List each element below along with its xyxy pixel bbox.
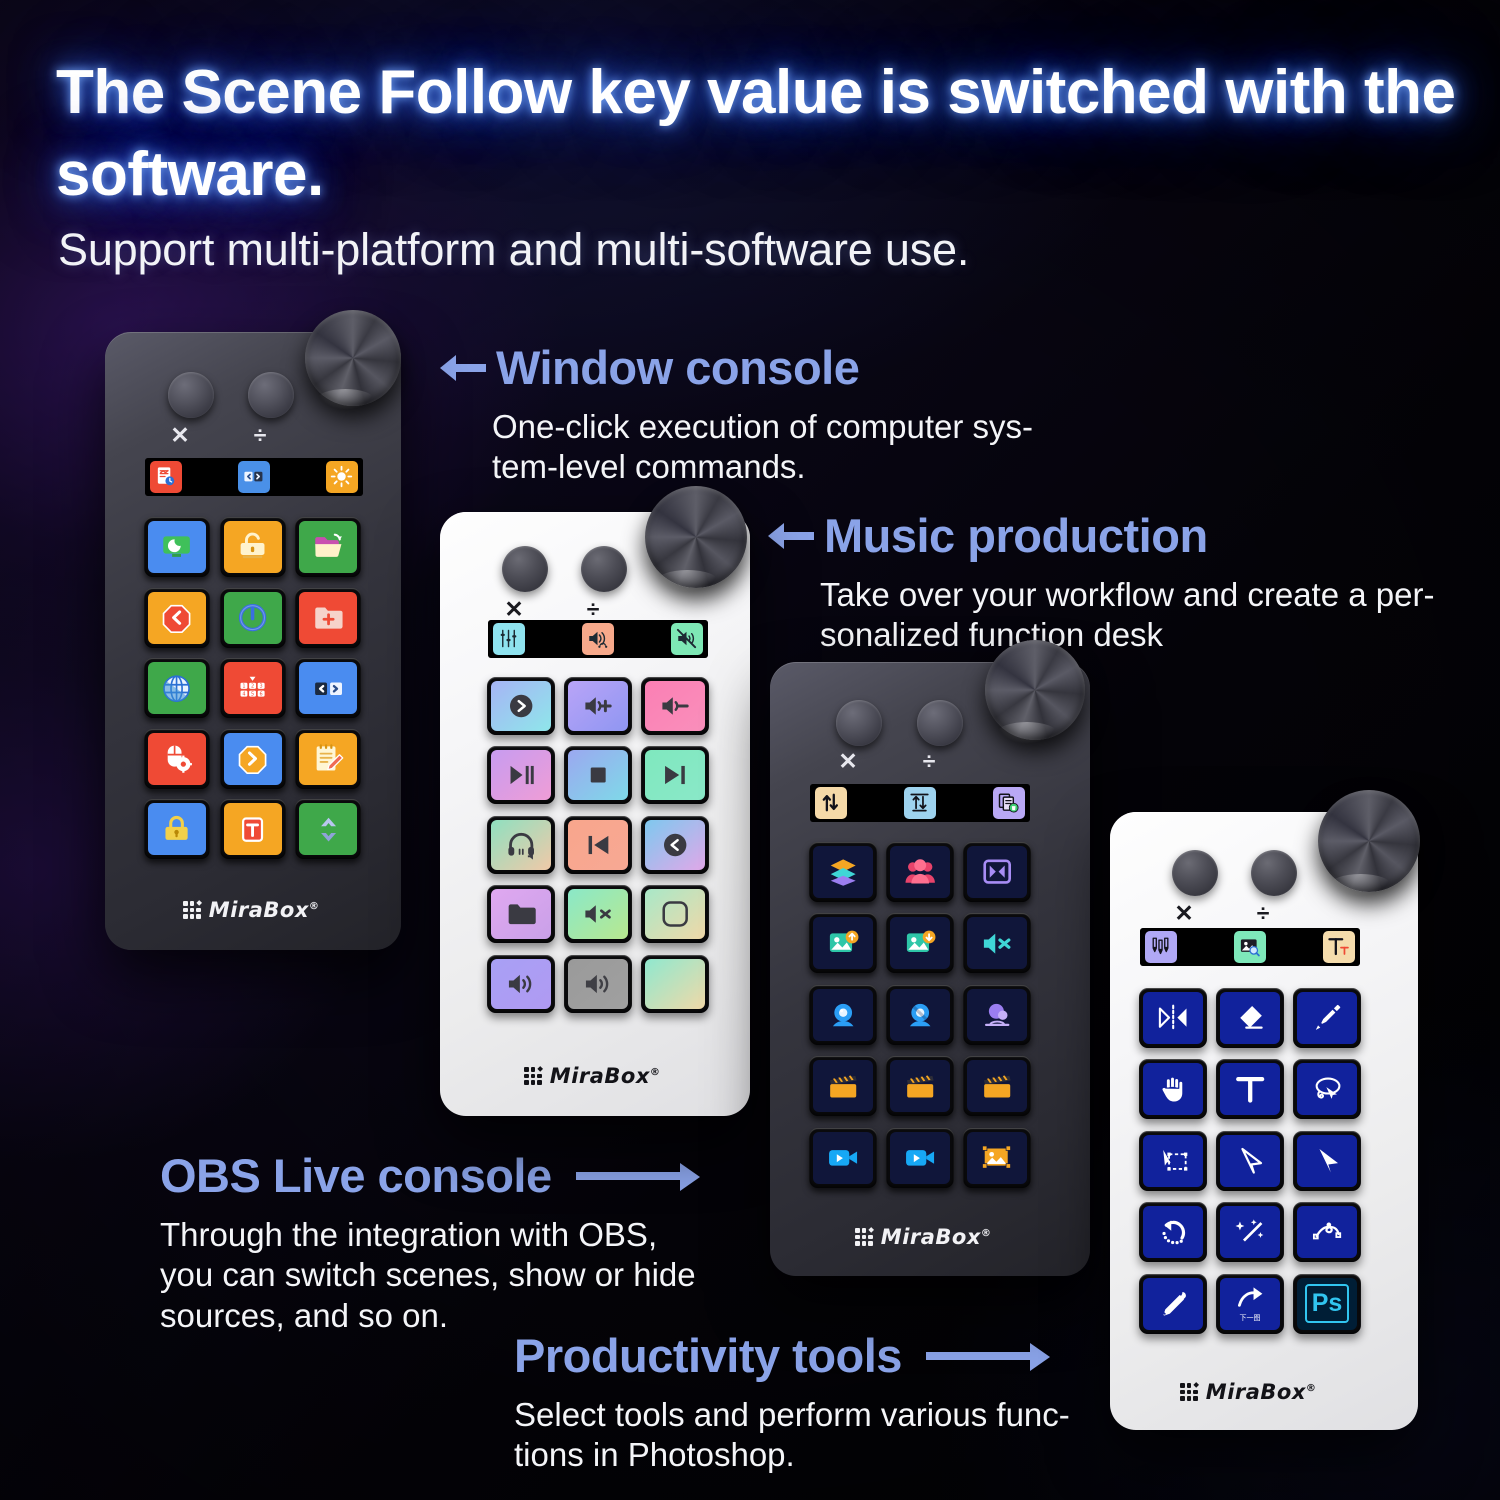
svg-text:1: 1	[242, 683, 245, 689]
callout-window-console-title: Window console	[440, 340, 1033, 395]
key-globe-network-icon[interactable]	[144, 658, 210, 718]
page-headline: The Scene Follow key value is switched w…	[56, 52, 1466, 217]
key-face-switch-window-icon	[299, 662, 357, 714]
rotary-encoder-knob[interactable]	[645, 486, 747, 588]
control-knob-small-2[interactable]	[1251, 850, 1297, 896]
key-face-mute-source-icon	[967, 917, 1027, 969]
key-speaker-muted-grey-icon[interactable]	[564, 955, 632, 1013]
divide-symbol-label: ÷	[247, 424, 273, 447]
key-back-circle-icon[interactable]	[641, 816, 709, 874]
key-face-forward-run-icon	[224, 733, 282, 785]
control-knob-small-2[interactable]	[581, 546, 627, 592]
control-knob-small-1[interactable]	[1172, 850, 1218, 896]
control-knob-small-1[interactable]	[836, 700, 882, 746]
callout-obs-live-console-body: Through the integration with OBS, you ca…	[160, 1215, 700, 1336]
key-obs-studio-icon[interactable]	[963, 985, 1031, 1045]
callout-music-production-title: Music production	[768, 508, 1434, 563]
key-face-back-stop-icon	[148, 592, 206, 644]
key-blank-gradient-key[interactable]	[641, 955, 709, 1013]
key-clapboard-scene-3-icon[interactable]	[963, 1056, 1031, 1116]
key-face-audience-group-icon	[890, 846, 950, 898]
key-lasso-tool-icon[interactable]	[1293, 1059, 1361, 1119]
key-face-text-tool-icon	[224, 803, 282, 855]
key-face-magic-wand-icon	[1220, 1206, 1280, 1258]
brand-logo: MiraBox®	[1180, 1380, 1316, 1404]
control-knob-small-1[interactable]	[168, 372, 214, 418]
key-face-sleep-monitor-icon	[148, 521, 206, 573]
key-rounded-square-outline-icon[interactable]	[641, 885, 709, 943]
strip-key-audio-mixer-icon[interactable]	[493, 623, 525, 655]
callout-productivity-tools-title: Productivity tools	[514, 1328, 1070, 1383]
arrow-left-icon	[440, 353, 486, 383]
key-face-mouse-settings-icon	[148, 733, 206, 785]
key-undo-icon[interactable]	[1139, 1202, 1207, 1262]
key-grid	[809, 842, 1033, 1190]
key-eraser-icon[interactable]	[1216, 988, 1284, 1048]
key-face-unlock-icon	[224, 521, 282, 573]
key-next-track-icon[interactable]	[641, 746, 709, 804]
key-face-transform-selection-icon	[1143, 1135, 1203, 1187]
key-face-image-show-icon	[813, 917, 873, 969]
key-hand-tool-icon[interactable]	[1139, 1059, 1207, 1119]
multiply-symbol-label: ✕	[501, 598, 527, 621]
key-switch-window-icon[interactable]	[295, 658, 361, 718]
key-webcam-on-icon[interactable]	[809, 985, 877, 1045]
key-face-pen-tool-icon	[1297, 992, 1357, 1044]
strip-key-duplicate-delete-icon[interactable]	[993, 787, 1025, 819]
brand-name-label: MiraBox®	[550, 1064, 661, 1088]
callout-music-production: Music production Take over your workflow…	[768, 508, 1434, 656]
key-face-obs-studio-icon	[967, 989, 1027, 1041]
control-knob-small-1[interactable]	[502, 546, 548, 592]
key-face-clapboard-scene-2-icon	[890, 1060, 950, 1112]
key-folder-icon[interactable]	[487, 885, 555, 943]
key-stop-icon[interactable]	[564, 746, 632, 804]
key-face-image-hide-icon	[890, 917, 950, 969]
key-face-eyedropper-icon	[1143, 1278, 1203, 1330]
brand-logo: MiraBox®	[855, 1225, 991, 1249]
strip-key-align-updown-icon[interactable]	[904, 787, 936, 819]
key-face-updown-chevron-icon	[299, 803, 357, 855]
key-headphones-audio-icon[interactable]	[487, 816, 555, 874]
key-grid: 下一图Ps	[1139, 988, 1363, 1336]
svg-text:2: 2	[251, 683, 254, 689]
callout-obs-live-console-title: OBS Live console	[160, 1148, 700, 1203]
arrow-left-icon	[768, 521, 814, 551]
brand-name-label: MiraBox®	[881, 1225, 992, 1249]
key-play-pause-icon[interactable]	[487, 746, 555, 804]
key-face-webcam-off-icon	[890, 989, 950, 1041]
key-face-next-track-icon	[645, 750, 705, 800]
key-face-numeric-keypad-icon: 123456	[224, 662, 282, 714]
strip-key-image-zoom-icon[interactable]	[1234, 931, 1266, 963]
key-face-pen-curve-icon	[1297, 1206, 1357, 1258]
page-subheadline: Support multi-platform and multi-softwar…	[58, 224, 1258, 276]
key-face-previous-track-icon	[568, 820, 628, 870]
top-key-strip	[145, 458, 363, 496]
key-face-rounded-square-outline-icon	[645, 889, 705, 939]
key-sleep-monitor-icon[interactable]	[144, 517, 210, 577]
divide-symbol-label: ÷	[1250, 902, 1276, 925]
key-notepad-edit-icon[interactable]	[295, 729, 361, 789]
key-face-next-step-arrow-icon: 下一图	[1220, 1278, 1280, 1330]
svg-text:4: 4	[242, 691, 245, 697]
rotary-encoder-knob[interactable]	[1318, 790, 1420, 892]
key-photoshop-icon[interactable]: Ps	[1293, 1274, 1361, 1334]
key-face-folder-icon	[491, 889, 551, 939]
key-face-path-selection-icon	[1220, 1135, 1280, 1187]
strip-key-headset-audio-icon[interactable]	[582, 623, 614, 655]
device-productivity-tools: ✕÷下一图PsMiraBox®	[1110, 812, 1418, 1430]
key-numeric-keypad-icon[interactable]: 123456	[220, 658, 286, 718]
divide-symbol-label: ÷	[580, 598, 606, 621]
key-eyedropper-icon[interactable]	[1139, 1274, 1207, 1334]
key-face-webcam-on-icon	[813, 989, 873, 1041]
brand-name-label: MiraBox®	[1206, 1380, 1317, 1404]
key-clapboard-scene-2-icon[interactable]	[886, 1056, 954, 1116]
key-image-hide-icon[interactable]	[886, 913, 954, 973]
key-webcam-off-icon[interactable]	[886, 985, 954, 1045]
strip-key-brightness-icon[interactable]	[326, 461, 358, 493]
svg-text:5: 5	[251, 691, 254, 697]
control-knob-small-2[interactable]	[248, 372, 294, 418]
key-mute-source-icon[interactable]	[963, 913, 1031, 973]
key-grid: 123456	[144, 517, 364, 862]
key-image-source-icon[interactable]	[963, 1128, 1031, 1188]
rotary-encoder-knob[interactable]	[305, 310, 401, 406]
key-mouse-settings-icon[interactable]	[144, 729, 210, 789]
key-face-power-icon	[224, 592, 282, 644]
key-face-speaker-muted-grey-icon	[568, 959, 628, 1009]
multiply-symbol-label: ✕	[835, 750, 861, 773]
key-transform-selection-icon[interactable]	[1139, 1131, 1207, 1191]
mirabox-grid-mark-icon	[855, 1228, 873, 1246]
control-knob-small-2[interactable]	[917, 700, 963, 746]
callout-music-production-body: Take over your workflow and create a per…	[820, 575, 1434, 656]
strip-key-brush-tools-icon[interactable]	[1145, 931, 1177, 963]
key-play-circle-icon[interactable]	[487, 677, 555, 735]
callout-productivity-tools: Productivity tools Select tools and perf…	[514, 1328, 1070, 1476]
key-face-volume-mute-icon	[568, 889, 628, 939]
key-power-icon[interactable]	[220, 588, 286, 648]
divide-symbol-label: ÷	[916, 750, 942, 773]
callout-window-console-body: One-click execution of computer sys- tem…	[492, 407, 1033, 488]
key-unlock-icon[interactable]	[220, 517, 286, 577]
key-face-start-recording-icon	[813, 1132, 873, 1184]
top-key-strip	[1140, 928, 1360, 966]
callout-obs-live-console: OBS Live console Through the integration…	[160, 1148, 700, 1336]
top-key-strip	[810, 784, 1030, 822]
key-path-selection-icon[interactable]	[1216, 1131, 1284, 1191]
callout-productivity-tools-body: Select tools and perform various func- t…	[514, 1395, 1070, 1476]
key-face-notepad-edit-icon	[299, 733, 357, 785]
mirabox-grid-mark-icon	[524, 1067, 542, 1085]
strip-key-text-size-icon[interactable]	[1323, 931, 1355, 963]
brand-logo: MiraBox®	[524, 1064, 660, 1088]
strip-key-swap-arrows-icon[interactable]	[815, 787, 847, 819]
strip-key-window-switch-icon[interactable]	[238, 461, 270, 493]
key-next-step-arrow-icon[interactable]: 下一图	[1216, 1274, 1284, 1334]
brand-name-label: MiraBox®	[209, 898, 320, 922]
key-face-volume-down-icon	[645, 681, 705, 731]
key-type-tool-icon[interactable]	[1216, 1059, 1284, 1119]
key-volume-down-icon[interactable]	[641, 677, 709, 735]
key-face-flip-horizontal-icon	[1143, 992, 1203, 1044]
key-face-clapboard-scene-1-icon	[813, 1060, 873, 1112]
key-volume-mute-icon[interactable]	[564, 885, 632, 943]
key-open-folder-icon[interactable]	[295, 517, 361, 577]
key-face-lasso-tool-icon	[1297, 1063, 1357, 1115]
device-window-console: ✕÷123456MiraBox®	[105, 332, 401, 950]
key-scene-layers-icon[interactable]	[809, 842, 877, 902]
key-move-tool-icon[interactable]	[1293, 1131, 1361, 1191]
key-face-image-source-icon	[967, 1132, 1027, 1184]
key-image-show-icon[interactable]	[809, 913, 877, 973]
key-face-hand-tool-icon	[1143, 1063, 1203, 1115]
key-face-type-tool-icon	[1220, 1063, 1280, 1115]
key-face-lock-screen-icon	[148, 803, 206, 855]
svg-text:3: 3	[260, 683, 263, 689]
key-face-new-folder-icon	[299, 592, 357, 644]
key-flip-horizontal-icon[interactable]	[1139, 988, 1207, 1048]
key-back-stop-icon[interactable]	[144, 588, 210, 648]
key-new-folder-icon[interactable]	[295, 588, 361, 648]
key-face-clapboard-scene-3-icon	[967, 1060, 1027, 1112]
key-face-transition-icon	[967, 846, 1027, 898]
key-face-undo-icon	[1143, 1206, 1203, 1258]
key-face-eraser-icon	[1220, 992, 1280, 1044]
key-face-play-circle-icon	[491, 681, 551, 731]
key-grid	[487, 677, 711, 1015]
key-previous-track-icon[interactable]	[564, 816, 632, 874]
key-face-move-tool-icon	[1297, 1135, 1357, 1187]
device-music-production: ✕÷MiraBox®	[440, 512, 750, 1116]
key-stop-recording-icon[interactable]	[886, 1128, 954, 1188]
key-face-blank-gradient-key	[645, 959, 705, 1009]
key-face-speaker-on-icon	[491, 959, 551, 1009]
key-face-stop-icon	[568, 750, 628, 800]
key-pen-curve-icon[interactable]	[1293, 1202, 1361, 1262]
key-face-stop-recording-icon	[890, 1132, 950, 1184]
key-volume-up-icon[interactable]	[564, 677, 632, 735]
multiply-symbol-label: ✕	[167, 424, 193, 447]
arrow-right-icon	[926, 1341, 1050, 1371]
key-face-volume-up-icon	[568, 681, 628, 731]
key-face-headphones-audio-icon	[491, 820, 551, 870]
strip-key-mute-icon[interactable]	[671, 623, 703, 655]
arrow-right-icon	[576, 1161, 700, 1191]
callout-window-console: Window console One-click execution of co…	[440, 340, 1033, 488]
svg-text:6: 6	[260, 691, 263, 697]
key-transition-icon[interactable]	[963, 842, 1031, 902]
brand-logo: MiraBox®	[183, 898, 319, 922]
key-face-play-pause-icon	[491, 750, 551, 800]
key-updown-chevron-icon[interactable]	[295, 799, 361, 859]
key-clapboard-scene-1-icon[interactable]	[809, 1056, 877, 1116]
top-key-strip	[488, 620, 708, 658]
key-start-recording-icon[interactable]	[809, 1128, 877, 1188]
key-lock-screen-icon[interactable]	[144, 799, 210, 859]
key-face-scene-layers-icon	[813, 846, 873, 898]
key-forward-run-icon[interactable]	[220, 729, 286, 789]
key-pen-tool-icon[interactable]	[1293, 988, 1361, 1048]
key-face-back-circle-icon	[645, 820, 705, 870]
mirabox-grid-mark-icon	[1180, 1383, 1198, 1401]
key-face-globe-network-icon	[148, 662, 206, 714]
rotary-encoder-knob[interactable]	[985, 640, 1085, 740]
key-text-tool-icon[interactable]	[220, 799, 286, 859]
key-speaker-on-icon[interactable]	[487, 955, 555, 1013]
key-face-open-folder-icon	[299, 521, 357, 573]
key-face-photoshop-icon: Ps	[1297, 1278, 1357, 1330]
key-audience-group-icon[interactable]	[886, 842, 954, 902]
key-magic-wand-icon[interactable]	[1216, 1202, 1284, 1262]
strip-key-task-report-clock-icon[interactable]	[150, 461, 182, 493]
multiply-symbol-label: ✕	[1171, 902, 1197, 925]
device-obs-live-console: ✕÷MiraBox®	[770, 662, 1090, 1276]
mirabox-grid-mark-icon	[183, 901, 201, 919]
